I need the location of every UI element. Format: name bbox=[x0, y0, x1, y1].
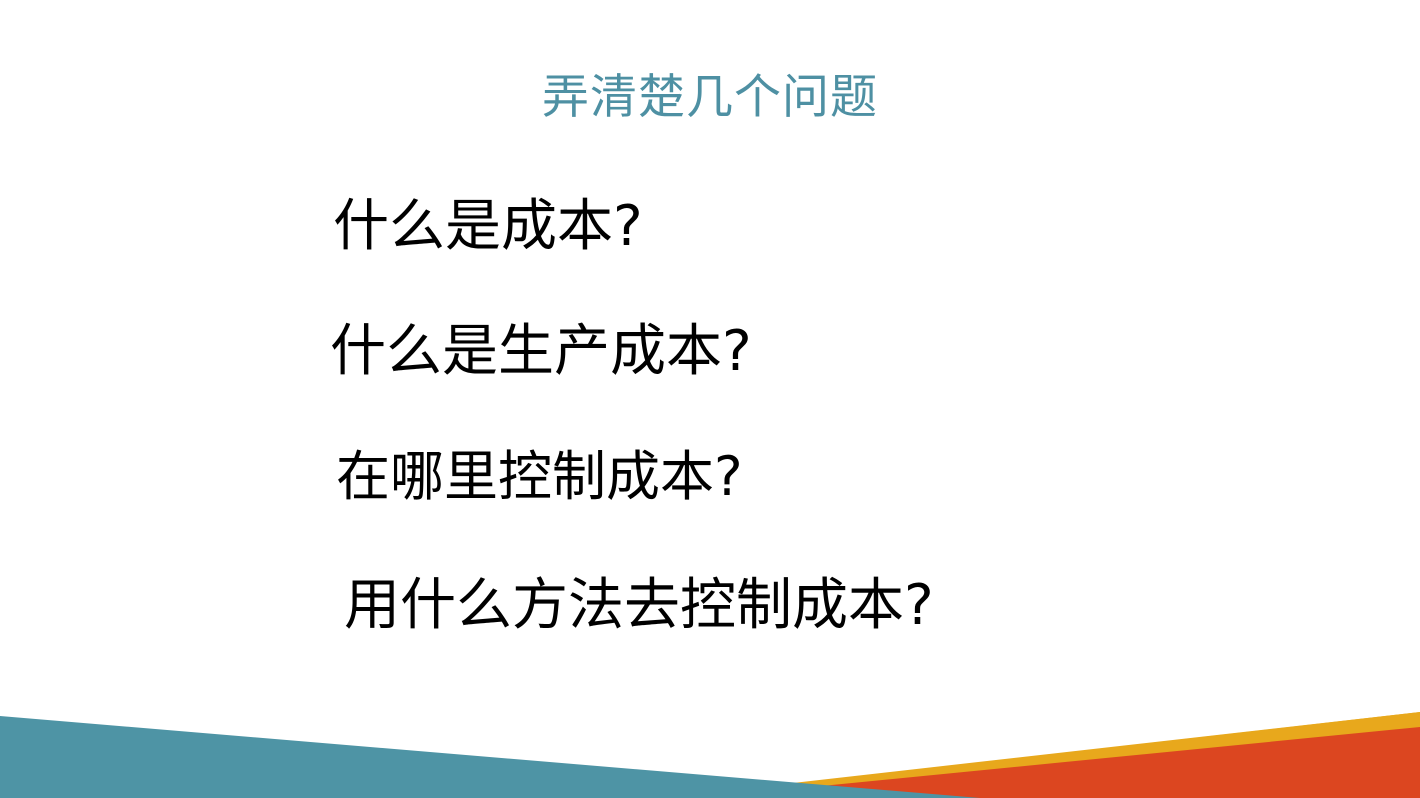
slide-canvas: 弄清楚几个问题 什么是成本? 什么是生产成本? 在哪里控制成本? 用什么方法去控… bbox=[0, 0, 1420, 798]
decoration-shapes bbox=[0, 688, 1420, 798]
body-line-2: 什么是生产成本? bbox=[330, 324, 752, 380]
body-line-3: 在哪里控制成本? bbox=[336, 450, 743, 504]
bottom-decoration bbox=[0, 688, 1420, 798]
teal-wedge-shape bbox=[0, 716, 980, 798]
gold-band-shape bbox=[670, 712, 1420, 798]
body-line-1: 什么是成本? bbox=[333, 199, 643, 255]
orange-wedge-shape bbox=[700, 727, 1420, 798]
body-line-4: 用什么方法去控制成本? bbox=[344, 578, 934, 634]
slide-title: 弄清楚几个问题 bbox=[0, 74, 1420, 121]
gold-wedge-shape bbox=[660, 712, 1420, 798]
